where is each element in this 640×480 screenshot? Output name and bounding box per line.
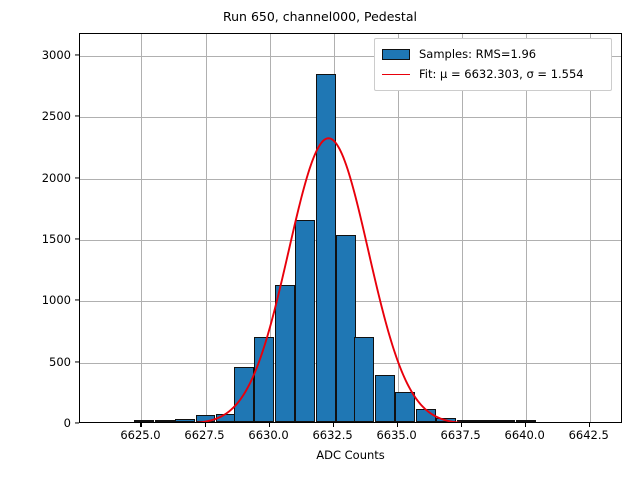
x-tick-label: 6635.0 (376, 428, 416, 442)
y-tick-mark (75, 55, 79, 56)
y-tick-label: 1000 (9, 293, 71, 307)
x-tick-label: 6632.5 (312, 428, 352, 442)
x-tick-mark (525, 423, 526, 427)
plot-area (79, 33, 622, 423)
y-tick-label: 0 (9, 416, 71, 430)
y-tick-label: 500 (9, 355, 71, 369)
gaussian-fit-curve (80, 34, 621, 422)
x-tick-mark (205, 423, 206, 427)
y-tick-mark (75, 422, 79, 423)
fit-path (80, 138, 622, 423)
y-tick-mark (75, 238, 79, 239)
x-tick-mark (333, 423, 334, 427)
y-tick-mark (75, 116, 79, 117)
y-tick-mark (75, 361, 79, 362)
legend: Samples: RMS=1.96 Fit: μ = 6632.303, σ =… (374, 38, 612, 91)
legend-item-fit: Fit: μ = 6632.303, σ = 1.554 (382, 64, 604, 84)
x-tick-label: 6627.5 (184, 428, 224, 442)
legend-label-fit: Fit: μ = 6632.303, σ = 1.554 (419, 67, 584, 81)
y-tick-label: 1500 (9, 232, 71, 246)
legend-patch-icon (382, 49, 410, 60)
x-axis-label: ADC Counts (79, 448, 622, 462)
page-title: Run 650, channel000, Pedestal (0, 9, 640, 24)
x-tick-mark (269, 423, 270, 427)
x-tick-label: 6630.0 (248, 428, 288, 442)
x-tick-mark (589, 423, 590, 427)
x-tick-label: 6642.5 (569, 428, 609, 442)
x-tick-label: 6640.0 (505, 428, 545, 442)
x-tick-mark (140, 423, 141, 427)
y-tick-mark (75, 300, 79, 301)
figure-canvas: Run 650, channel000, Pedestal 0500100015… (0, 0, 640, 480)
y-tick-label: 2500 (9, 109, 71, 123)
x-tick-label: 6625.0 (120, 428, 160, 442)
y-tick-label: 3000 (9, 48, 71, 62)
legend-item-samples: Samples: RMS=1.96 (382, 44, 604, 64)
legend-line-icon (382, 74, 410, 75)
y-tick-mark (75, 177, 79, 178)
x-tick-mark (397, 423, 398, 427)
x-tick-label: 6637.5 (441, 428, 481, 442)
y-axis-label: Entries (0, 215, 3, 255)
y-tick-label: 2000 (9, 171, 71, 185)
legend-label-samples: Samples: RMS=1.96 (419, 47, 536, 61)
x-tick-mark (461, 423, 462, 427)
